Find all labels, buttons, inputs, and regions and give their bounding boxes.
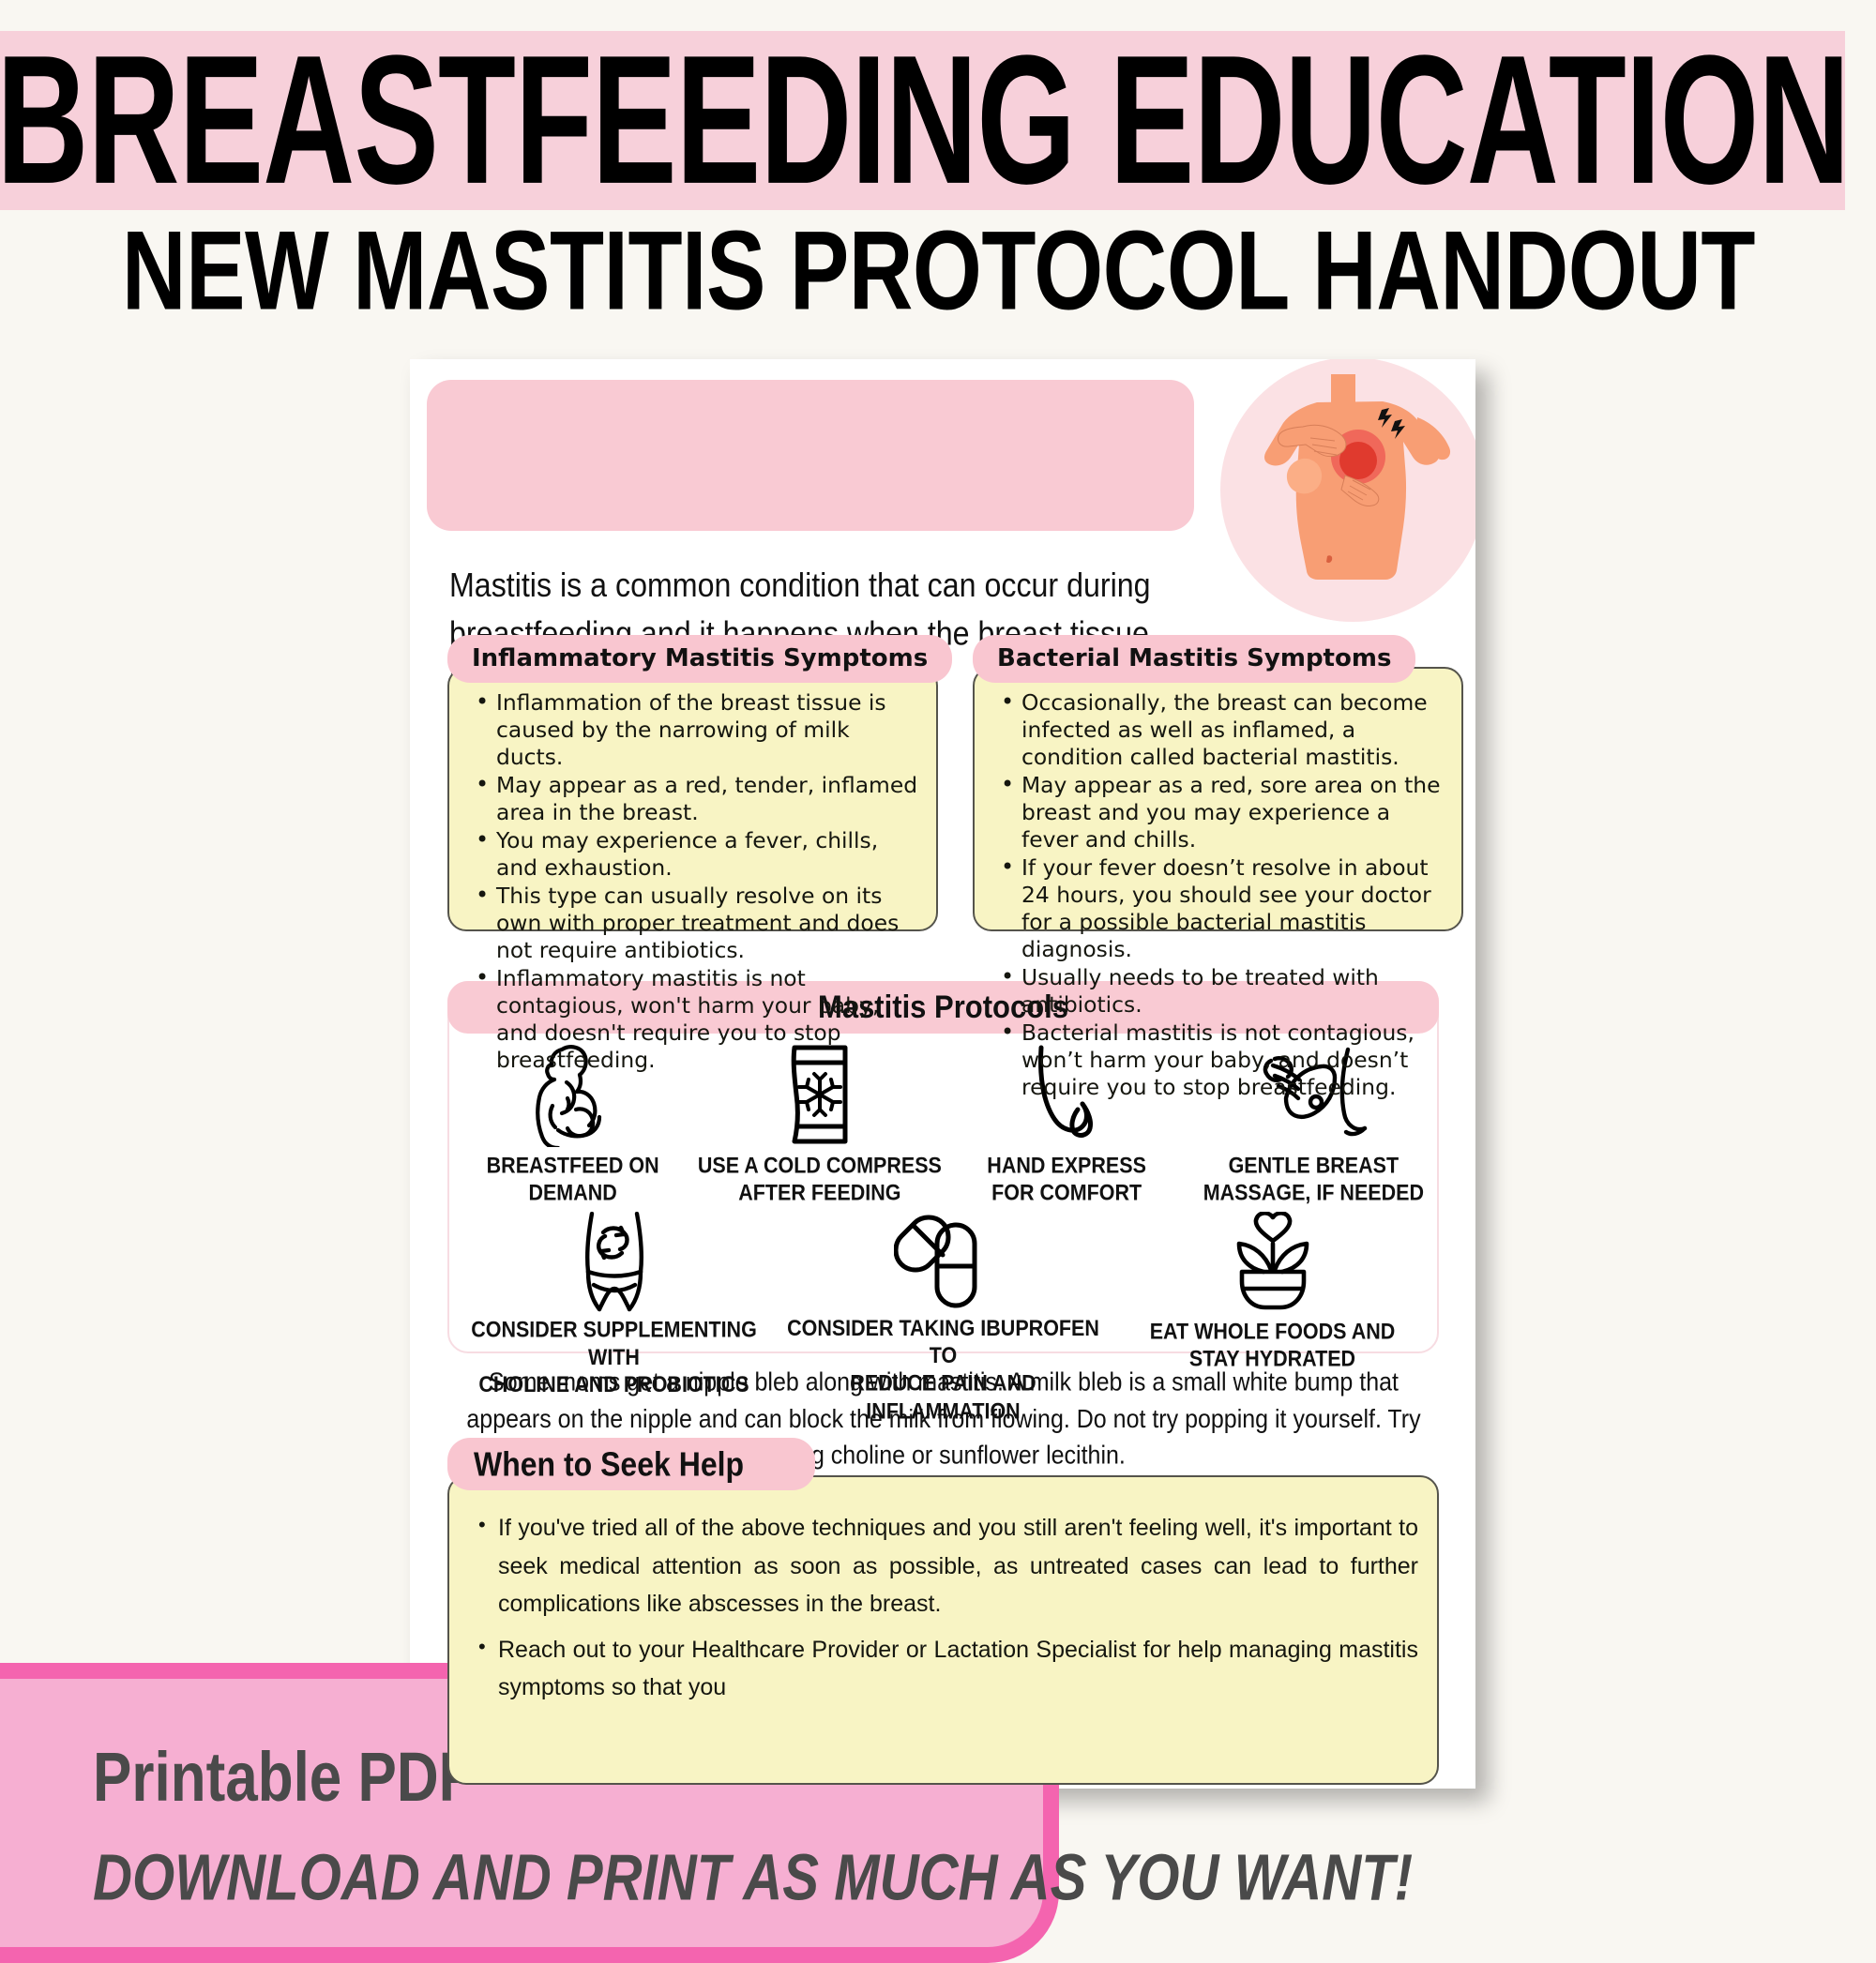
list-item: This type can usually resolve on its own… bbox=[470, 883, 919, 964]
list-item: May appear as a red, sore area on the br… bbox=[995, 772, 1445, 853]
protocol-label: USE A COLD COMPRESS AFTER FEEDING bbox=[698, 1152, 942, 1207]
bacterial-symptoms-list: Occasionally, the breast can become infe… bbox=[995, 689, 1445, 1101]
inflammatory-symptoms-box: Inflammation of the breast tissue is cau… bbox=[447, 667, 938, 931]
bacterial-symptoms-heading: Bacterial Mastitis Symptoms bbox=[973, 635, 1415, 683]
protocol-label: HAND EXPRESS FOR COMFORT bbox=[987, 1152, 1146, 1207]
torso-gut-cycle-icon bbox=[566, 1208, 663, 1313]
list-item: May appear as a red, tender, inflamed ar… bbox=[470, 772, 919, 826]
main-title: BREASTFEEDING EDUCATION bbox=[0, 39, 1849, 201]
list-item: Usually needs to be treated with antibio… bbox=[995, 964, 1445, 1019]
list-item: Reach out to your Healthcare Provider or… bbox=[472, 1631, 1418, 1707]
protocol-label: BREASTFEED ON DEMAND bbox=[487, 1152, 659, 1207]
inflammatory-symptoms-list: Inflammation of the breast tissue is cau… bbox=[470, 689, 919, 1074]
whole-foods-bowl-heart-icon bbox=[1221, 1208, 1324, 1313]
bacterial-symptoms-box: Occasionally, the breast can become infe… bbox=[973, 667, 1463, 931]
seek-help-box: If you've tried all of the above techniq… bbox=[447, 1475, 1439, 1785]
subtitle-text: NEW MASTITIS PROTOCOL HANDOUT bbox=[121, 214, 1754, 326]
list-item: You may experience a fever, chills, and … bbox=[470, 827, 919, 882]
subtitle: NEW MASTITIS PROTOCOL HANDOUT bbox=[0, 214, 1876, 306]
handout-title-pill bbox=[427, 380, 1194, 531]
woman-breast-pain-illustration bbox=[1220, 359, 1475, 622]
handout-preview-card: Mastitis is a common condition that can … bbox=[410, 359, 1475, 1789]
list-item: If your fever doesn’t resolve in about 2… bbox=[995, 854, 1445, 963]
printable-pdf-label: Printable PDF bbox=[93, 1738, 475, 1818]
inflammatory-symptoms-heading: Inflammatory Mastitis Symptoms bbox=[447, 635, 952, 683]
protocol-label: GENTLE BREAST MASSAGE, IF NEEDED bbox=[1203, 1152, 1424, 1207]
list-item: If you've tried all of the above techniq… bbox=[472, 1509, 1418, 1623]
list-item: Inflammation of the breast tissue is cau… bbox=[470, 689, 919, 771]
seek-help-heading-pill: When to Seek Help bbox=[447, 1438, 815, 1490]
two-pills-capsule-icon bbox=[894, 1208, 993, 1313]
list-item: Occasionally, the breast can become infe… bbox=[995, 689, 1445, 771]
seek-help-list: If you've tried all of the above techniq… bbox=[472, 1509, 1418, 1707]
list-item: Inflammatory mastitis is not contagious,… bbox=[470, 965, 919, 1074]
seek-help-heading-text: When to Seek Help bbox=[474, 1444, 744, 1483]
list-item: Bacterial mastitis is not contagious, wo… bbox=[995, 1019, 1445, 1101]
top-pink-banner: BREASTFEEDING EDUCATION bbox=[0, 31, 1845, 210]
download-print-label: DOWNLOAD AND PRINT AS MUCH AS YOU WANT! bbox=[93, 1840, 1413, 1916]
